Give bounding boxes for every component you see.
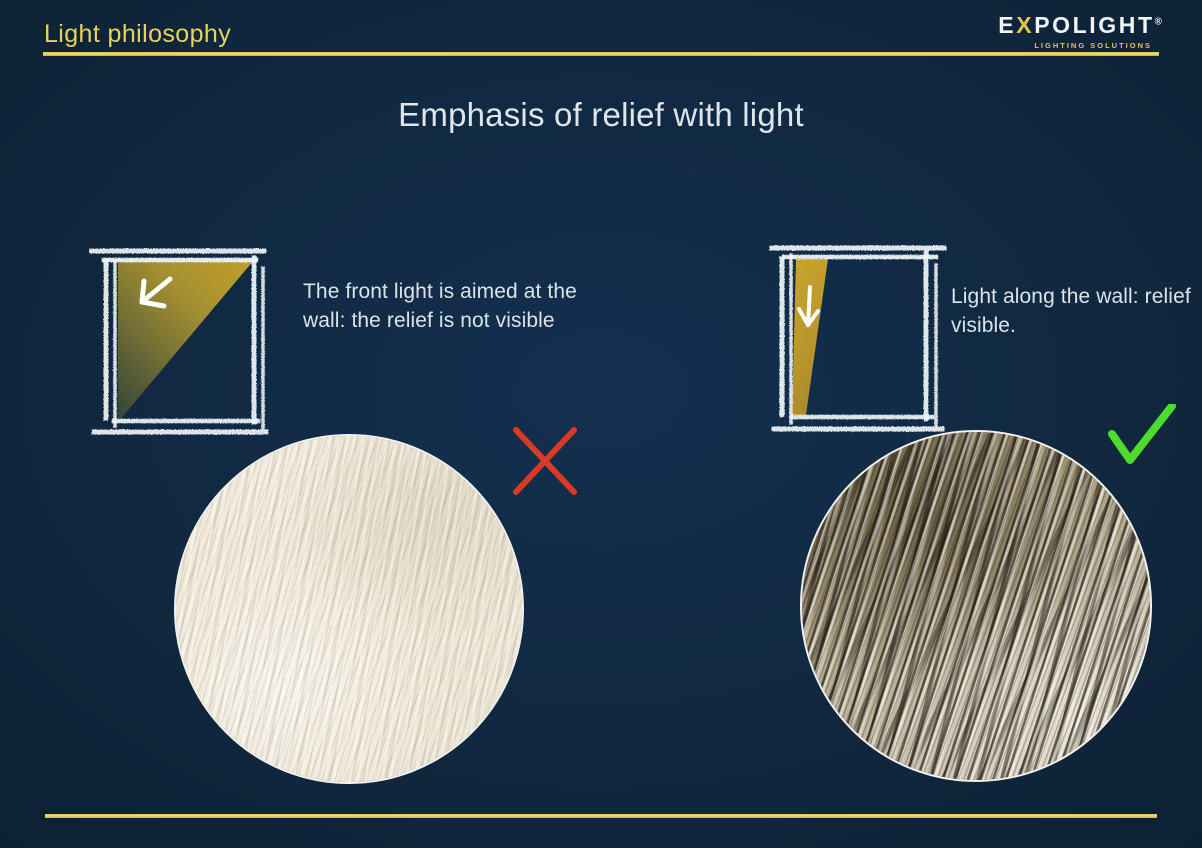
right-panel-caption: Light along the wall: relief visible. [951, 283, 1196, 341]
flat-stone-texture-surface [176, 436, 522, 782]
logo-text-before: E [998, 12, 1016, 38]
brand-logo: EXPOLIGHT® LIGHTING SOLUTIONS [998, 14, 1162, 50]
logo-text-after: POLIGHT [1034, 12, 1154, 38]
logo-tagline: LIGHTING SOLUTIONS [998, 42, 1162, 50]
logo-wordmark: EXPOLIGHT® [998, 14, 1162, 37]
light-beam-shape [118, 260, 254, 422]
registered-trademark-icon: ® [1155, 16, 1162, 27]
footer-divider-rule [45, 814, 1157, 818]
header-section-label: Light philosophy [44, 20, 231, 49]
header-divider-rule [43, 52, 1159, 56]
flat-stone-texture-photo [174, 434, 524, 784]
light-beam-shape [792, 259, 828, 415]
slide: Light philosophy EXPOLIGHT® LIGHTING SOL… [0, 0, 1202, 848]
page-title: Emphasis of relief with light [0, 96, 1202, 134]
left-panel-caption: The front light is aimed at the wall: th… [303, 278, 603, 336]
relief-stone-texture-photo [800, 430, 1152, 782]
grazing-light-wall-diagram [766, 233, 958, 441]
relief-stone-texture-surface [802, 432, 1150, 780]
logo-accent-letter: X [1016, 12, 1034, 38]
front-light-wall-diagram [86, 236, 278, 444]
